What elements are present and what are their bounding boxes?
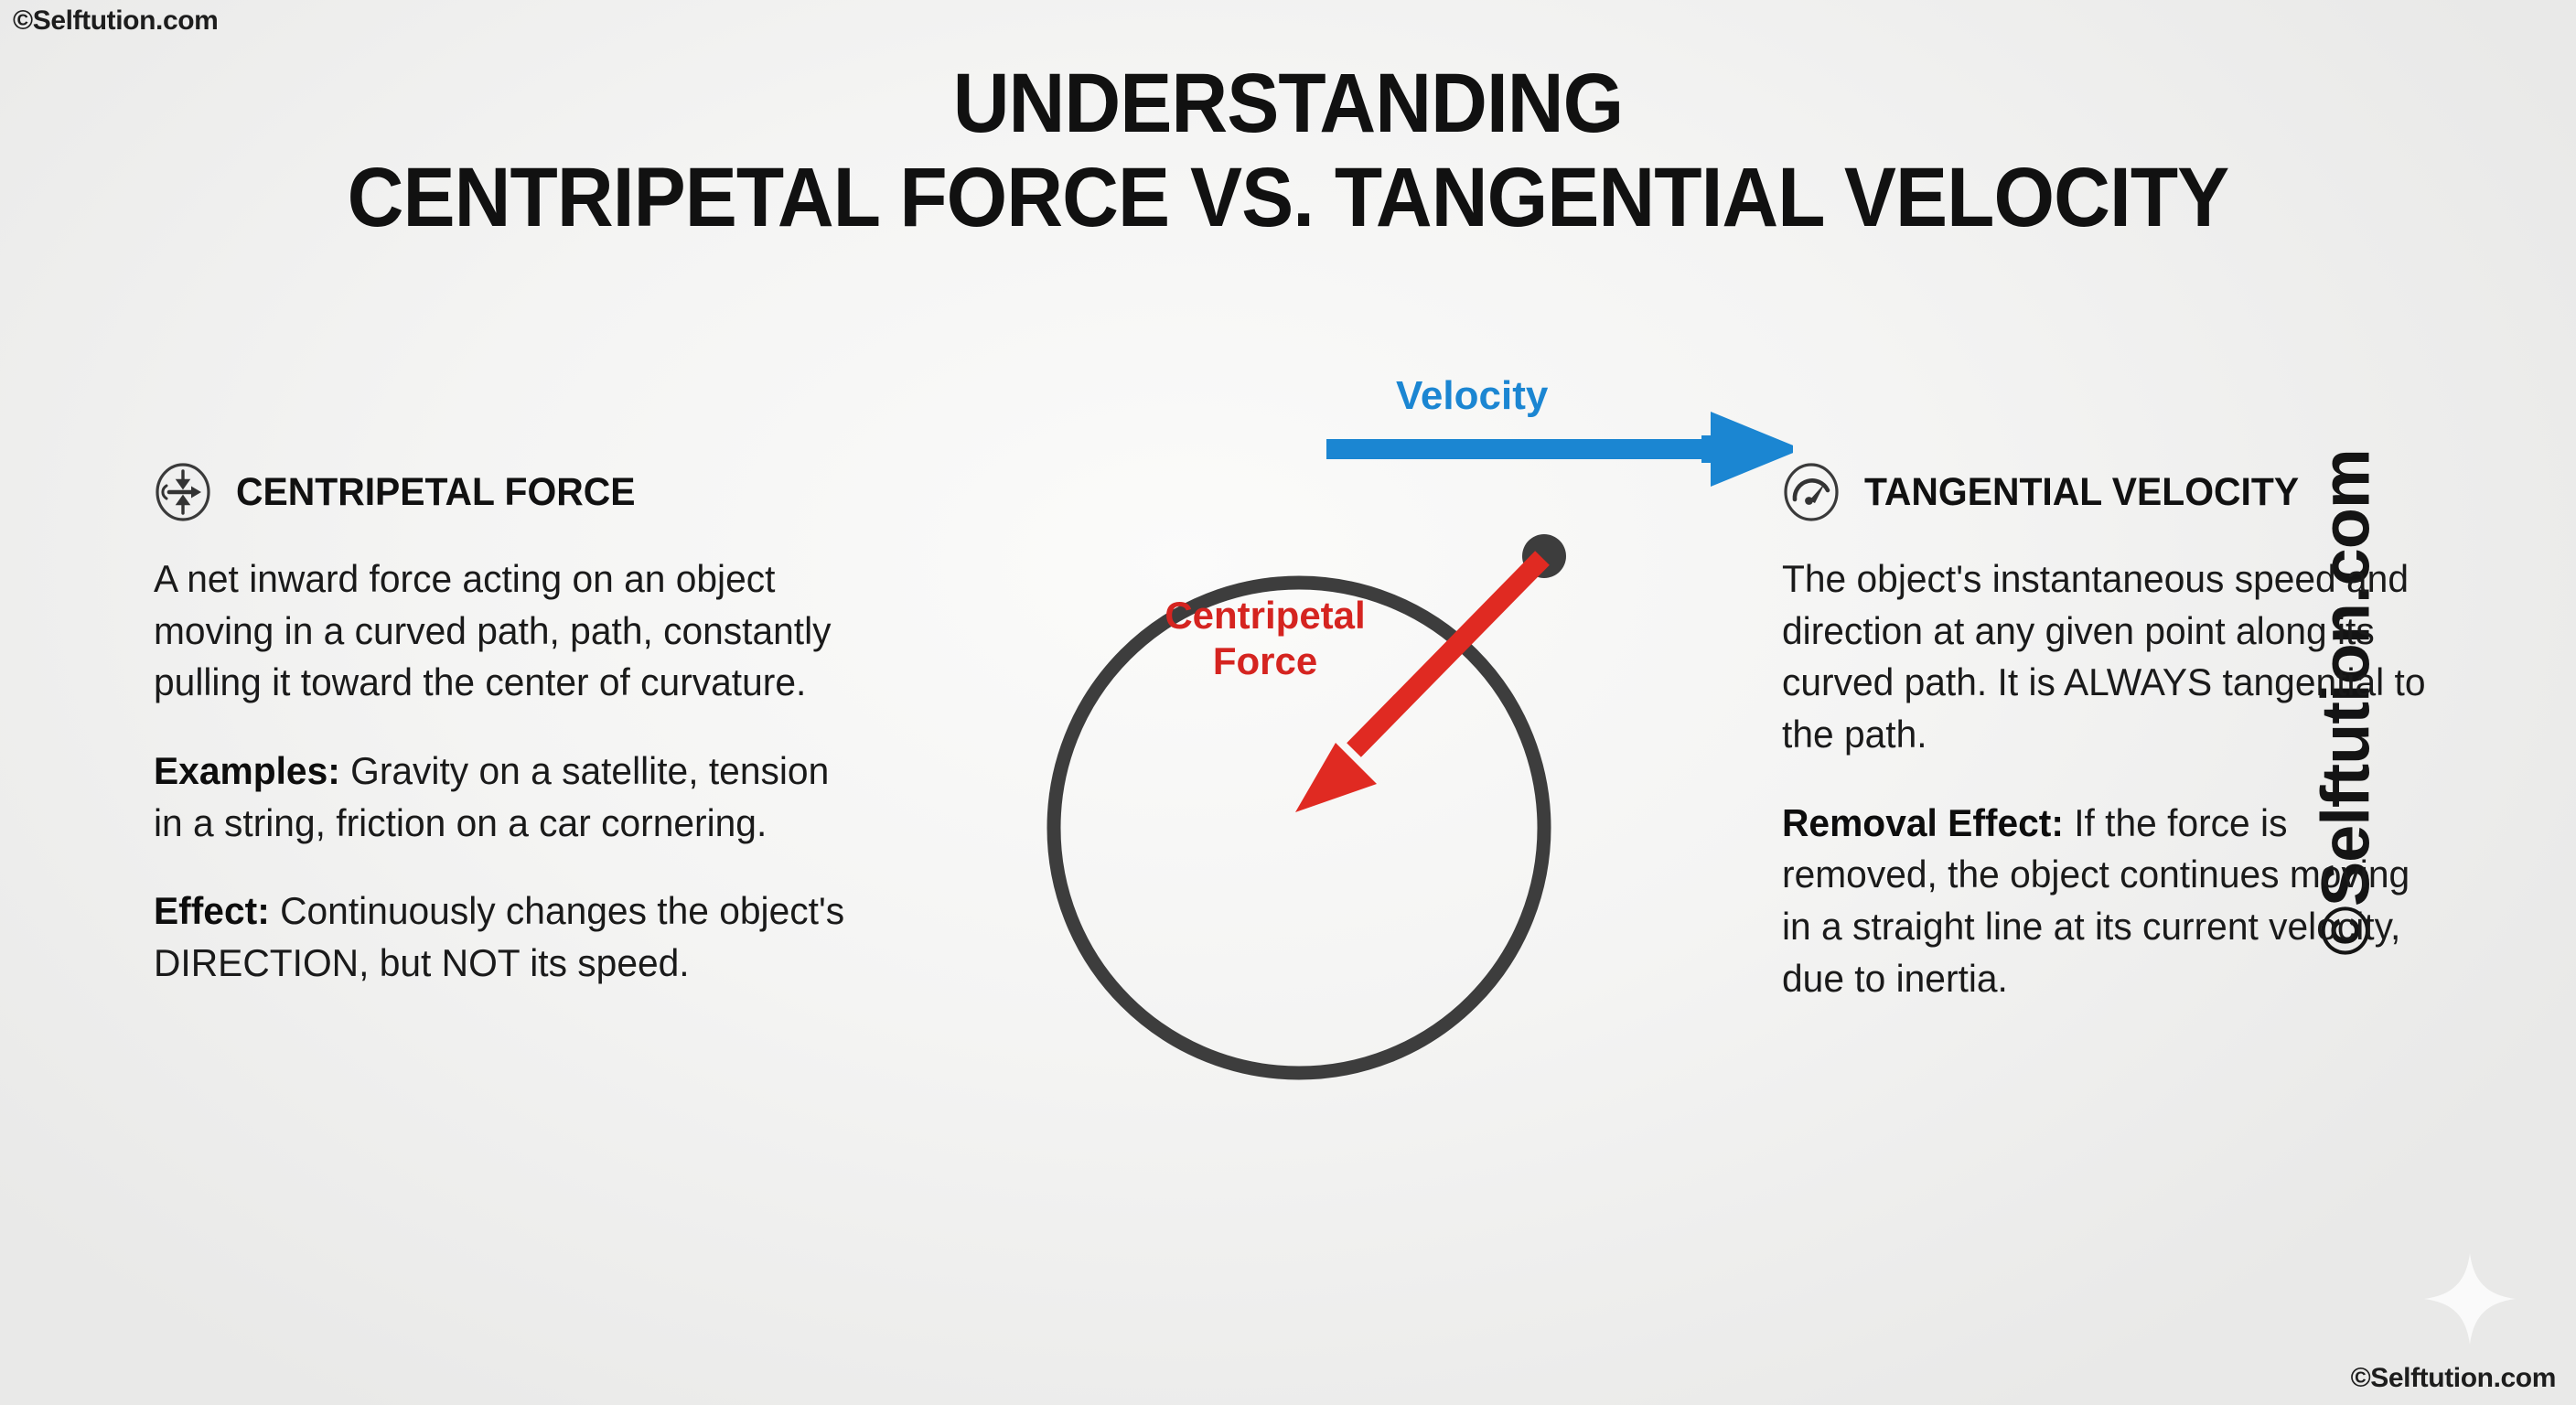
watermark-top-left: ©Selftution.com: [13, 5, 218, 37]
column-centripetal-force: CENTRIPETAL FORCE A net inward force act…: [154, 462, 876, 990]
right-paragraph-removal-effect: Removal Effect: If the force is removed,…: [1782, 798, 2430, 1005]
column-right-heading: TANGENTIAL VELOCITY: [1864, 470, 2299, 515]
centripetal-force-label-line1: Centripetal: [1137, 593, 1393, 638]
column-right-header: TANGENTIAL VELOCITY: [1782, 462, 2450, 522]
page-title: UNDERSTANDING CENTRIPETAL FORCE VS. TANG…: [0, 57, 2576, 245]
left-paragraph-definition: A net inward force acting on an object m…: [154, 553, 854, 709]
column-left-heading: CENTRIPETAL FORCE: [236, 470, 636, 515]
centripetal-force-label-line2: Force: [1137, 638, 1393, 684]
diagram-svg: [896, 348, 1793, 1153]
left-paragraph-examples: Examples: Gravity on a satellite, tensio…: [154, 745, 854, 849]
column-left-header: CENTRIPETAL FORCE: [154, 462, 876, 522]
velocity-label: Velocity: [1396, 373, 1548, 419]
right-paragraph-definition-text: The object's instantaneous speed and dir…: [1782, 557, 2426, 756]
centripetal-force-label: Centripetal Force: [1137, 593, 1393, 683]
right-paragraph-definition: The object's instantaneous speed and dir…: [1782, 553, 2430, 761]
circular-motion-diagram: [896, 348, 1793, 1153]
velocity-arrow: [1326, 412, 1793, 487]
title-line-2: CENTRIPETAL FORCE VS. TANGENTIAL VELOCIT…: [91, 151, 2486, 245]
left-paragraph-effect-lead: Effect:: [154, 889, 270, 932]
sparkle-icon: [2422, 1251, 2517, 1346]
left-paragraph-definition-text: A net inward force acting on an object m…: [154, 557, 832, 703]
title-line-1: UNDERSTANDING: [91, 57, 2486, 151]
inward-force-icon: [154, 463, 212, 521]
left-paragraph-examples-lead: Examples:: [154, 749, 340, 792]
watermark-bottom-right: ©Selftution.com: [2351, 1363, 2556, 1394]
left-paragraph-effect: Effect: Continuously changes the object'…: [154, 885, 854, 989]
column-tangential-velocity: TANGENTIAL VELOCITY The object's instant…: [1782, 462, 2450, 1005]
infographic-poster: ©Selftution.com ©Selftution.com ©Selftut…: [0, 0, 2576, 1405]
right-paragraph-removal-effect-lead: Removal Effect:: [1782, 801, 2064, 844]
